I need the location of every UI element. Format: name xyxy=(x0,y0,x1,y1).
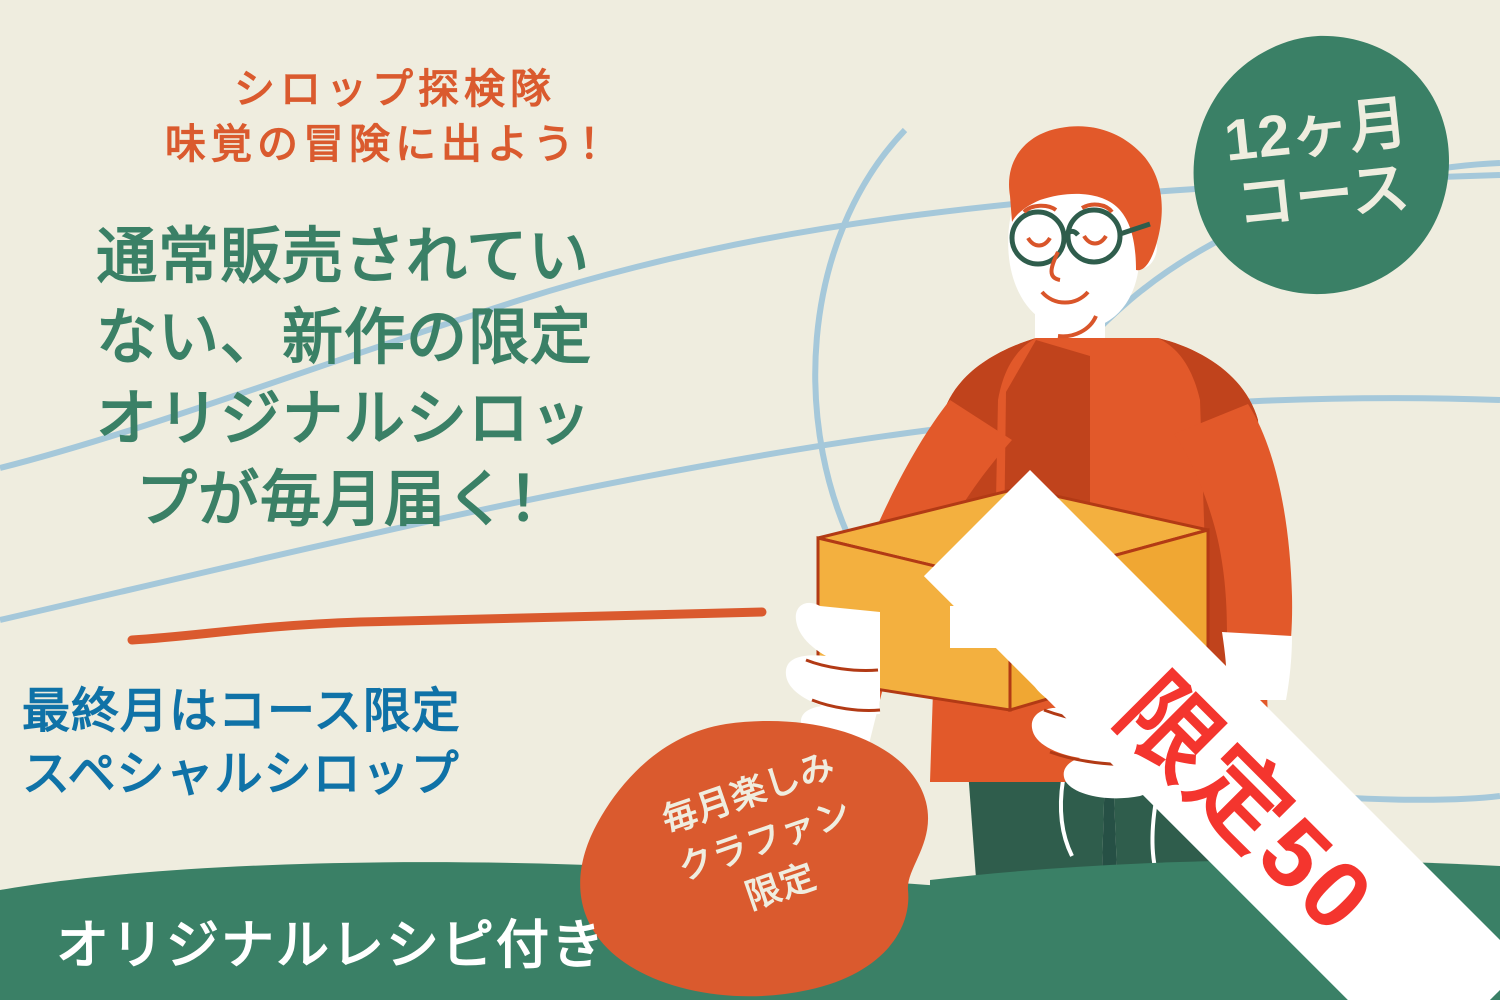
divider-rule xyxy=(110,600,770,650)
headline-line-4: プが毎月届く！ xyxy=(96,459,796,540)
headline-line-3: オリジナルシロッ xyxy=(96,378,796,459)
blob-note: 毎月楽しみ クラファン 限定 xyxy=(576,718,956,1000)
subline-line-2: スペシャルシロップ xyxy=(22,743,662,806)
eyebrow-line-1: シロップ探検隊 xyxy=(0,62,790,117)
headline-line-2: ない、新作の限定 xyxy=(96,297,796,378)
headline: 通常販売されてい ない、新作の限定 オリジナルシロッ プが毎月届く！ xyxy=(96,216,796,541)
eyebrow-copy: シロップ探検隊 味覚の冒険に出よう！ xyxy=(0,62,790,173)
subline-line-1: 最終月はコース限定 xyxy=(22,680,662,743)
poster-canvas: シロップ探検隊 味覚の冒険に出よう！ 通常販売されてい ない、新作の限定 オリジ… xyxy=(0,0,1500,1000)
badge-12-month-course[interactable]: 12ヶ月 コース xyxy=(1190,34,1450,296)
badge-label: 12ヶ月 コース xyxy=(1177,21,1463,309)
eyebrow-line-2: 味覚の冒険に出よう！ xyxy=(0,117,790,172)
bottom-banner-label: オリジナルレシピ付き xyxy=(56,903,606,979)
headline-line-1: 通常販売されてい xyxy=(96,216,796,297)
subline: 最終月はコース限定 スペシャルシロップ xyxy=(22,680,662,807)
